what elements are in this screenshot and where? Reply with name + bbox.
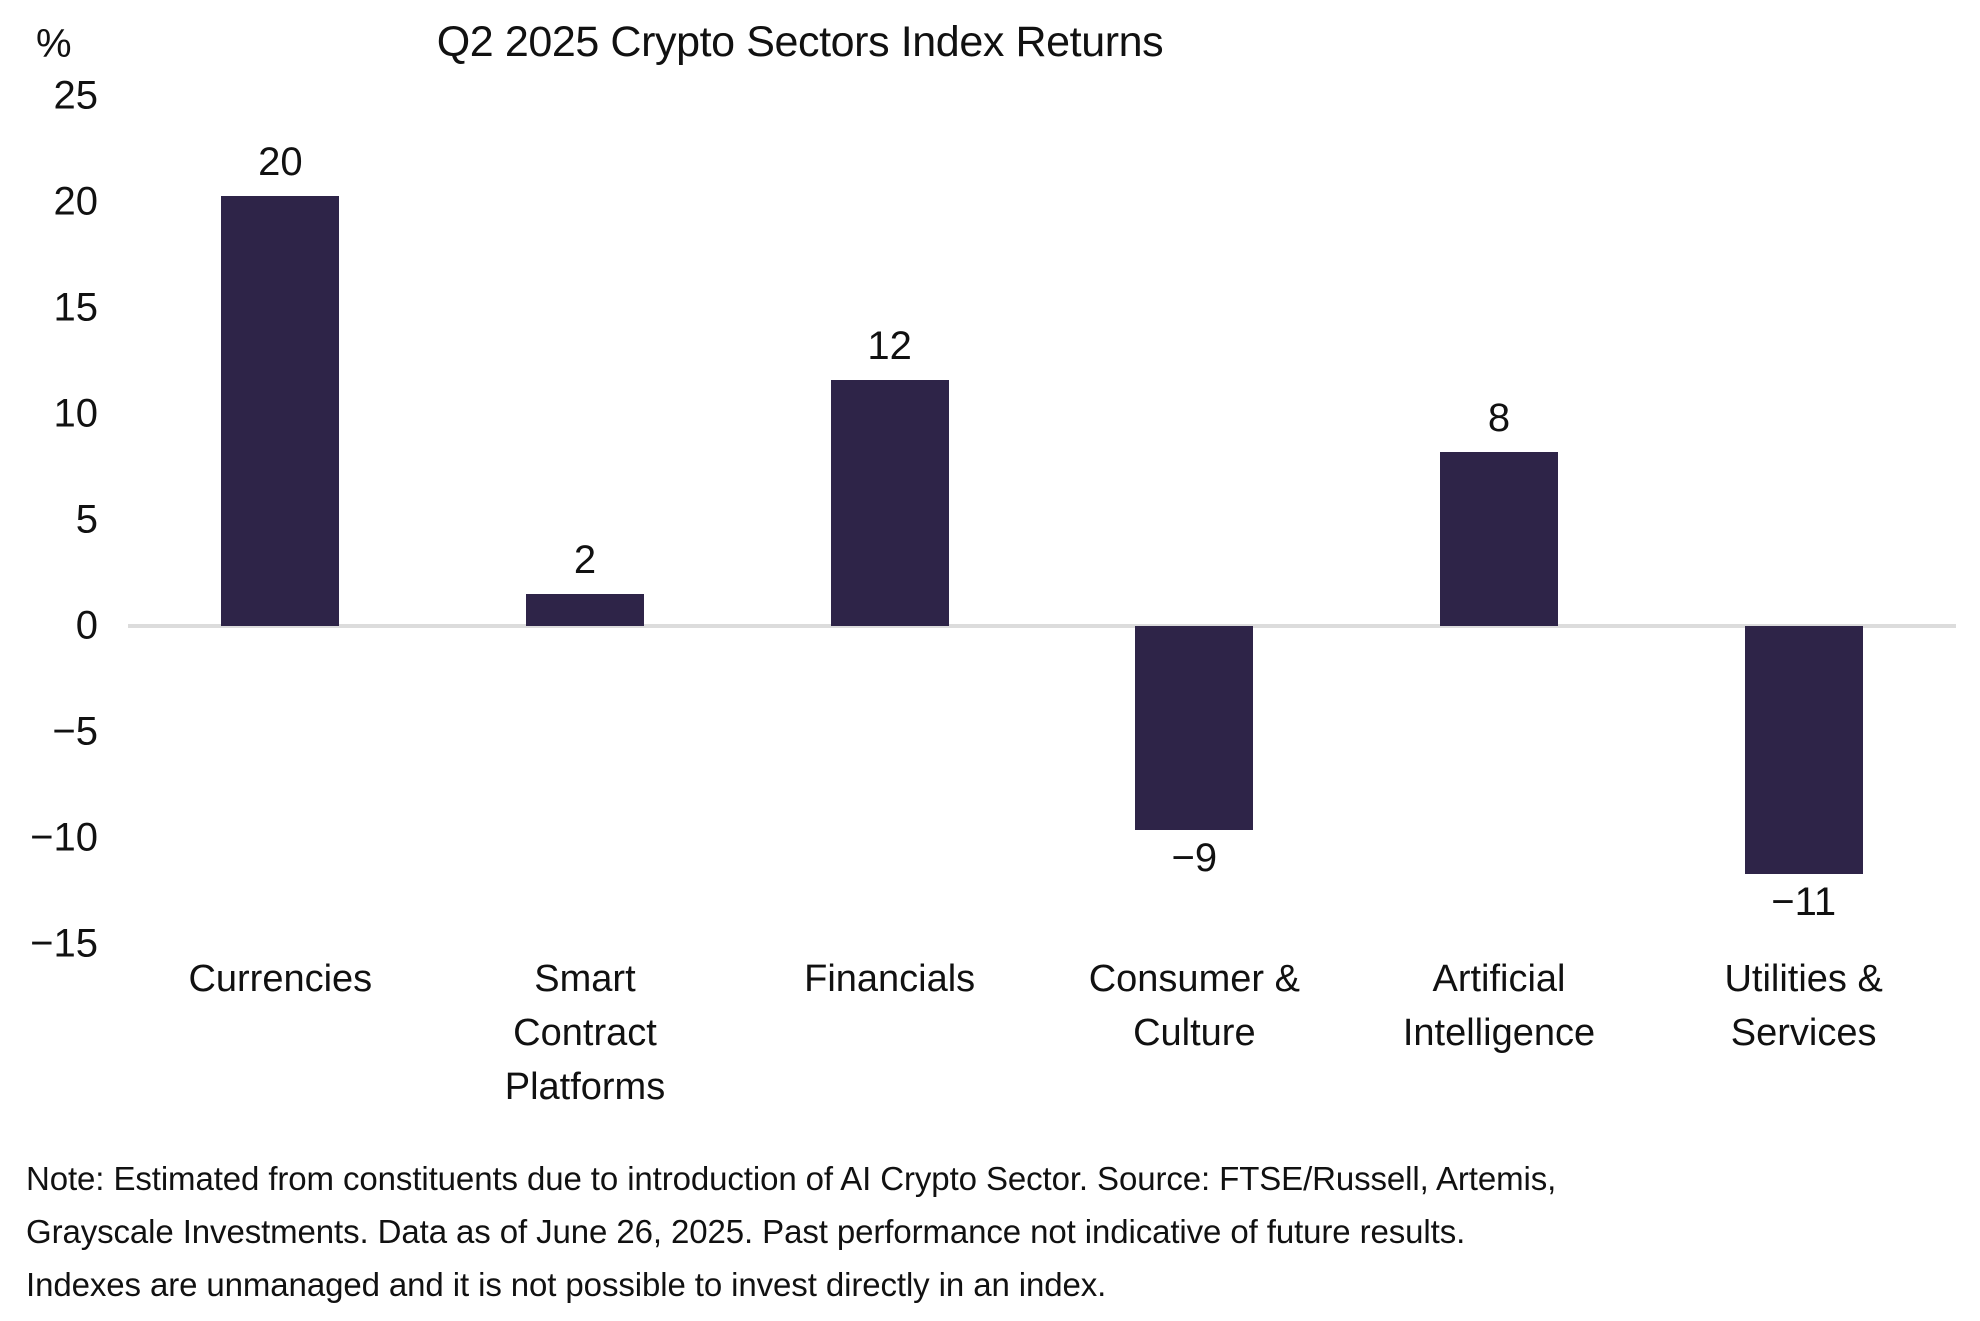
- footnote: Note: Estimated from constituents due to…: [26, 1152, 1956, 1311]
- y-axis-tick: 15: [54, 286, 99, 331]
- y-axis-tick: 10: [54, 392, 99, 437]
- chart-title: Q2 2025 Crypto Sectors Index Returns: [0, 18, 1980, 67]
- x-axis-category-label: Utilities &Services: [1651, 952, 1956, 1060]
- y-axis-tick: −15: [30, 922, 98, 967]
- x-axis-category-label-line: Financials: [737, 952, 1042, 1006]
- footnote-line-2: Grayscale Investments. Data as of June 2…: [26, 1205, 1956, 1258]
- chart-figure: Q2 2025 Crypto Sectors Index Returns % 2…: [0, 0, 1980, 1321]
- bar-group: 12: [737, 96, 1042, 944]
- bar-value-label: 20: [128, 140, 433, 185]
- x-axis-category-label: Financials: [737, 952, 1042, 1006]
- bar-group: −9: [1042, 96, 1347, 944]
- bar-group: 8: [1347, 96, 1652, 944]
- bar-value-label: 8: [1347, 396, 1652, 441]
- bar[interactable]: [831, 380, 949, 626]
- footnote-line-3: Indexes are unmanaged and it is not poss…: [26, 1258, 1956, 1311]
- x-axis-category-label-line: Smart: [433, 952, 738, 1006]
- x-axis-category-label-line: Artificial: [1347, 952, 1652, 1006]
- x-axis-category-label: ArtificialIntelligence: [1347, 952, 1652, 1060]
- bar-value-label: −11: [1651, 880, 1956, 925]
- x-axis-category-label-line: Platforms: [433, 1060, 738, 1114]
- x-axis-category-label: Currencies: [128, 952, 433, 1006]
- bar-value-label: 12: [737, 324, 1042, 369]
- y-axis-tick: 20: [54, 180, 99, 225]
- bar[interactable]: [221, 196, 339, 626]
- x-axis-category-label-line: Culture: [1042, 1006, 1347, 1060]
- x-axis-category-label-line: Currencies: [128, 952, 433, 1006]
- bar-value-label: −9: [1042, 836, 1347, 881]
- bar[interactable]: [1135, 626, 1253, 830]
- y-axis-tick: −10: [30, 816, 98, 861]
- x-axis-category-label: Consumer &Culture: [1042, 952, 1347, 1060]
- y-axis-tick-labels: 2520151050−5−10−15: [0, 96, 112, 944]
- x-axis-category-label: SmartContractPlatforms: [433, 952, 738, 1114]
- chart-title-text: Q2 2025 Crypto Sectors Index Returns: [437, 18, 1164, 66]
- y-axis-unit-label: %: [36, 22, 72, 67]
- bar[interactable]: [1745, 626, 1863, 874]
- bar[interactable]: [1440, 452, 1558, 626]
- footnote-line-1: Note: Estimated from constituents due to…: [26, 1152, 1956, 1205]
- bar-group: −11: [1651, 96, 1956, 944]
- bar-group: 2: [433, 96, 738, 944]
- y-axis-tick: 5: [76, 498, 98, 543]
- bar-value-label: 2: [433, 538, 738, 583]
- x-axis-category-label-line: Contract: [433, 1006, 738, 1060]
- x-axis-category-label-line: Utilities &: [1651, 952, 1956, 1006]
- bar[interactable]: [526, 594, 644, 626]
- bar-group: 20: [128, 96, 433, 944]
- plot-area: 20212−98−11: [128, 96, 1956, 944]
- y-axis-tick: 0: [76, 604, 98, 649]
- x-axis-category-label-line: Intelligence: [1347, 1006, 1652, 1060]
- x-axis-category-labels: CurrenciesSmartContractPlatformsFinancia…: [128, 952, 1956, 1132]
- y-axis-tick: 25: [54, 74, 99, 119]
- x-axis-category-label-line: Services: [1651, 1006, 1956, 1060]
- y-axis-tick: −5: [52, 710, 98, 755]
- x-axis-category-label-line: Consumer &: [1042, 952, 1347, 1006]
